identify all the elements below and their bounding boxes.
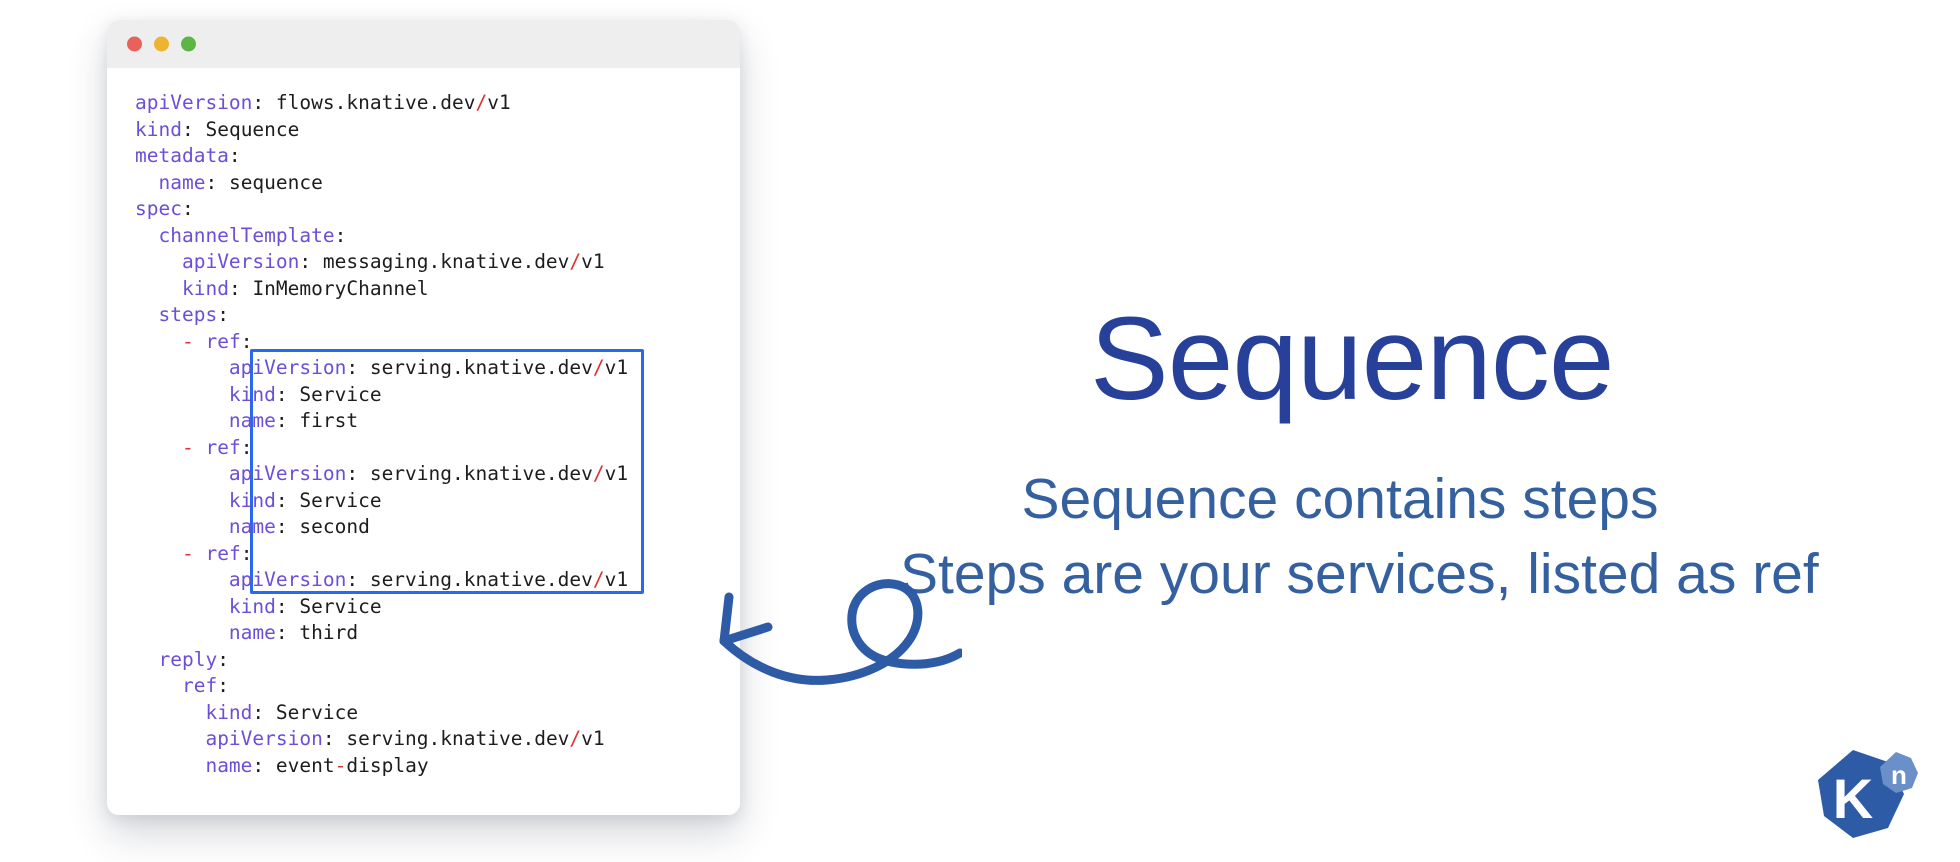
yaml-code-block[interactable]: apiVersion: flows.knative.dev/v1 kind: S… [107, 90, 740, 779]
window-titlebar [107, 20, 740, 68]
traffic-light-group [127, 37, 196, 52]
subtitle-line-1: Sequence contains steps [900, 468, 1780, 530]
code-window: apiVersion: flows.knative.dev/v1 kind: S… [107, 20, 740, 815]
code-body: apiVersion: flows.knative.dev/v1 kind: S… [107, 68, 740, 815]
slide-canvas: apiVersion: flows.knative.dev/v1 kind: S… [0, 0, 1960, 862]
subtitle-line-2: Steps are your services, listed as ref [900, 543, 1780, 605]
minimize-button[interactable] [154, 37, 169, 52]
logo-letter-k: K [1833, 767, 1873, 830]
knative-logo: K n [1812, 748, 1922, 840]
logo-letter-n: n [1891, 760, 1907, 790]
page-title: Sequence [1090, 300, 1590, 418]
maximize-button[interactable] [181, 37, 196, 52]
close-button[interactable] [127, 37, 142, 52]
